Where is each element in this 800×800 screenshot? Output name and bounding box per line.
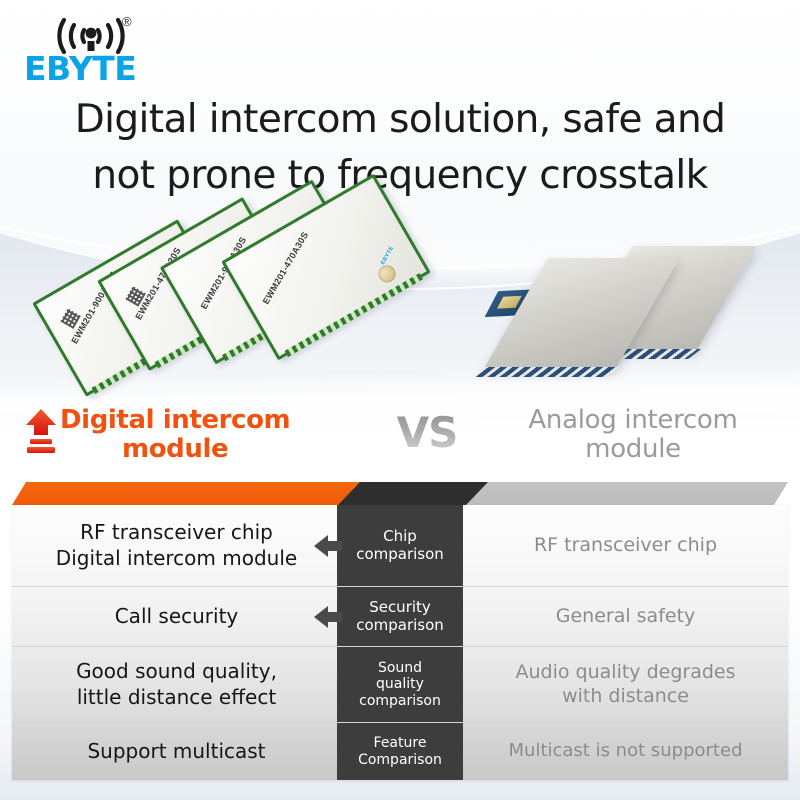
criterion-text: Security comparison [356, 599, 444, 634]
criterion-line-2: comparison [356, 545, 444, 563]
table-cell-criterion: Feature Comparison [337, 723, 463, 780]
comparison-table: RF transceiver chip Digital intercom mod… [12, 482, 788, 780]
table-cell-digital-text: RF transceiver chip Digital intercom mod… [56, 520, 297, 570]
table-row: Support multicast Feature Comparison Mul… [12, 723, 788, 780]
table-cell-analog: Audio quality degrades with distance [463, 647, 788, 722]
table-cell-criterion: Security comparison [337, 587, 463, 646]
criterion-line-2: quality [376, 676, 424, 692]
table-row: Call security Security comparison Genera… [12, 587, 788, 647]
criterion-text: Feature Comparison [358, 735, 442, 767]
solder-pads [284, 273, 423, 357]
table-cell-analog: Multicast is not supported [463, 723, 788, 780]
table-header-middle-bar [338, 482, 488, 505]
brand-name: EBYTE [24, 52, 136, 85]
headline-line-2: not prone to frequency crosstalk [0, 148, 800, 204]
table-cell-analog: General safety [463, 587, 788, 646]
table-cell-digital-text: Call security [115, 604, 239, 629]
table-cell-digital: RF transceiver chip Digital intercom mod… [12, 505, 337, 586]
arrow-left-icon [312, 600, 346, 634]
table-cell-analog-text: RF transceiver chip [534, 534, 717, 558]
digital-header-line-1: Digital intercom [60, 405, 290, 435]
table-cell-analog-text: Audio quality degrades with distance [516, 661, 736, 709]
digital-header-line-2: module [122, 434, 228, 464]
chip-icon [376, 263, 399, 286]
table-row: RF transceiver chip Digital intercom mod… [12, 505, 788, 587]
cell-line-2: with distance [562, 685, 689, 707]
page-title: Digital intercom solution, safe and not … [0, 92, 800, 204]
table-header-right-bar [460, 482, 788, 505]
table-cell-digital-text: Support multicast [87, 739, 265, 764]
cell-line-2: little distance effect [77, 685, 276, 709]
vs-label: VS [372, 408, 482, 457]
criterion-line-3: comparison [359, 693, 441, 709]
ebyte-logo: ® EBYTE [18, 14, 158, 86]
table-row: Good sound quality, little distance effe… [12, 647, 788, 723]
promo-page: ® EBYTE Digital intercom solution, safe … [0, 0, 800, 800]
table-cell-digital: Good sound quality, little distance effe… [12, 647, 337, 722]
arrow-left-icon [312, 529, 346, 563]
table-cell-analog: RF transceiver chip [463, 505, 788, 586]
criterion-line-1: Security [369, 598, 431, 616]
criterion-text: Sound quality comparison [359, 660, 441, 708]
analog-module-header: Analog intercom module [478, 406, 788, 464]
criterion-line-1: Sound [378, 660, 422, 676]
analog-header-line-1: Analog intercom [528, 405, 737, 435]
table-body: RF transceiver chip Digital intercom mod… [12, 505, 788, 780]
table-header-left-bar [12, 482, 364, 505]
table-cell-criterion: Chip comparison [337, 505, 463, 586]
product-photo-group: EWM201-900A20S EBYTE EWM201-470A20S EBYT… [0, 210, 800, 400]
cell-line-1: Good sound quality, [76, 659, 277, 683]
up-arrow-icon [24, 408, 58, 459]
table-cell-digital: Call security [12, 587, 337, 646]
headline-line-1: Digital intercom solution, safe and [0, 92, 800, 148]
criterion-line-2: Comparison [358, 752, 442, 768]
cell-line-1: RF transceiver chip [534, 534, 717, 556]
table-cell-analog-text: Multicast is not supported [509, 740, 743, 763]
table-cell-digital: Support multicast [12, 723, 337, 780]
product-module-4-label: EWM201-470A30S [260, 230, 310, 306]
criterion-text: Chip comparison [356, 528, 444, 563]
criterion-line-1: Chip [383, 527, 417, 545]
analog-header-line-2: module [585, 434, 681, 464]
product-module-4-brand: EBYTE [380, 245, 395, 266]
table-cell-criterion: Sound quality comparison [337, 647, 463, 722]
pin-row-icon [475, 367, 620, 377]
criterion-line-2: comparison [356, 616, 444, 634]
cell-line-2: Digital intercom module [56, 546, 297, 570]
cell-line-1: Audio quality degrades [516, 661, 736, 683]
comparison-header: Digital intercom module VS Analog interc… [0, 402, 800, 488]
digital-module-header: Digital intercom module [24, 406, 354, 464]
digital-module-header-label: Digital intercom module [60, 406, 290, 464]
criterion-line-1: Feature [374, 735, 427, 751]
registered-mark: ® [122, 14, 132, 29]
cell-line-1: RF transceiver chip [80, 520, 273, 544]
table-cell-digital-text: Good sound quality, little distance effe… [76, 659, 277, 709]
table-cell-analog-text: General safety [556, 605, 696, 629]
